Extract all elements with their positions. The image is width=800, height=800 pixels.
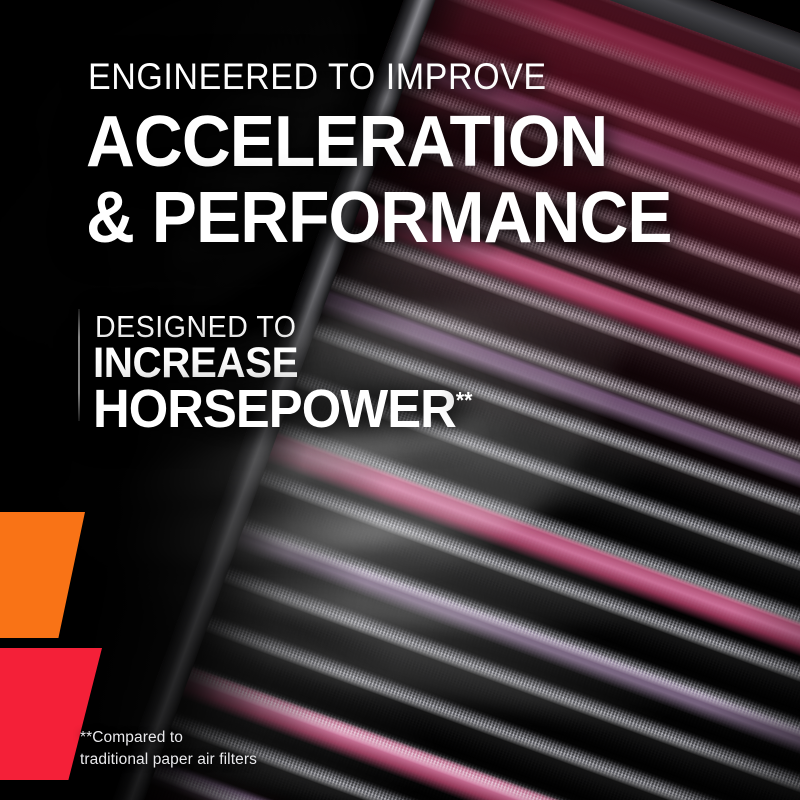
footnote: **Compared to traditional paper air filt… bbox=[80, 727, 257, 771]
vertical-rule bbox=[78, 309, 80, 421]
headline-eyebrow: ENGINEERED TO IMPROVE bbox=[88, 56, 547, 98]
headline-line-2: & PERFORMANCE bbox=[86, 177, 672, 259]
advertisement-canvas: ENGINEERED TO IMPROVE ACCELERATION & PER… bbox=[0, 0, 800, 800]
ad-copy: ENGINEERED TO IMPROVE ACCELERATION & PER… bbox=[0, 0, 800, 800]
subhead-line-2-text: HORSEPOWER bbox=[93, 379, 456, 439]
headline-line-1: ACCELERATION bbox=[86, 101, 607, 183]
footnote-line-2: traditional paper air filters bbox=[80, 749, 257, 771]
footnote-line-1: **Compared to bbox=[80, 727, 257, 749]
subhead-line-2: HORSEPOWER** bbox=[93, 378, 472, 440]
footnote-marker: ** bbox=[456, 387, 473, 413]
